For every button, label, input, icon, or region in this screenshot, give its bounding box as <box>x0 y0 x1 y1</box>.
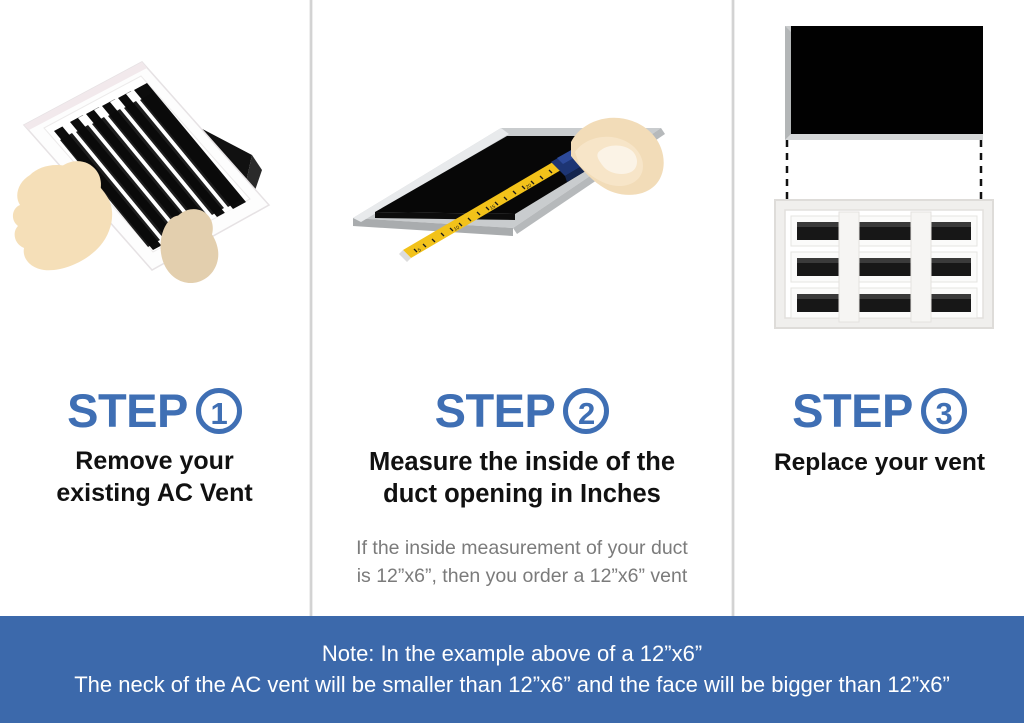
note-banner: Note: In the example above of a 12”x6” T… <box>0 616 1024 723</box>
step-title-1: Remove your existing AC Vent <box>0 446 309 510</box>
step-column-1: STEP1 Remove your existing AC Vent <box>0 0 309 616</box>
instruction-infographic: STEP1 Remove your existing AC Vent <box>0 0 1024 723</box>
step-title-3-line-1: Replace your vent <box>774 449 985 476</box>
step-word-3: STEP <box>792 384 913 437</box>
step-heading-1: STEP1 <box>0 383 309 434</box>
step-word-1: STEP <box>67 384 188 437</box>
step-number-badge-3: 3 <box>921 388 967 434</box>
vent-aligned-over-duct-illustration <box>735 0 1024 360</box>
step-title-1-line-2: existing AC Vent <box>56 479 252 507</box>
step-column-2: 5 10 15 20 STEP2 Measure the inside of <box>313 0 731 616</box>
step-note-2: If the inside measurement of your duct i… <box>313 534 731 591</box>
column-divider-1 <box>309 0 313 616</box>
step-heading-3: STEP3 <box>735 383 1024 434</box>
step-title-3: Replace your vent <box>735 447 1024 478</box>
column-divider-2 <box>731 0 735 616</box>
step-number-badge-1: 1 <box>196 388 242 434</box>
step-column-3: STEP3 Replace your vent <box>735 0 1024 616</box>
step-note-2-line-2: is 12”x6”, then you order a 12”x6” vent <box>357 565 688 587</box>
step-title-2-line-1: Measure the inside of the <box>369 448 675 476</box>
hands-removing-ac-vent-illustration <box>0 0 309 360</box>
step-note-2-line-1: If the inside measurement of your duct <box>356 537 688 559</box>
step-heading-2: STEP2 <box>313 383 731 434</box>
step-title-2-line-2: duct opening in Inches <box>383 480 661 508</box>
step-title-2: Measure the inside of the duct opening i… <box>313 446 731 511</box>
step-number-badge-2: 2 <box>563 388 609 434</box>
note-banner-text: Note: In the example above of a 12”x6” T… <box>0 638 1024 700</box>
note-banner-line-2: The neck of the AC vent will be smaller … <box>0 669 1024 700</box>
tape-measure-on-duct-opening-illustration: 5 10 15 20 <box>313 0 731 360</box>
step-title-1-line-1: Remove your <box>75 447 233 475</box>
step-word-2: STEP <box>435 384 556 437</box>
note-banner-line-1: Note: In the example above of a 12”x6” <box>0 638 1024 669</box>
